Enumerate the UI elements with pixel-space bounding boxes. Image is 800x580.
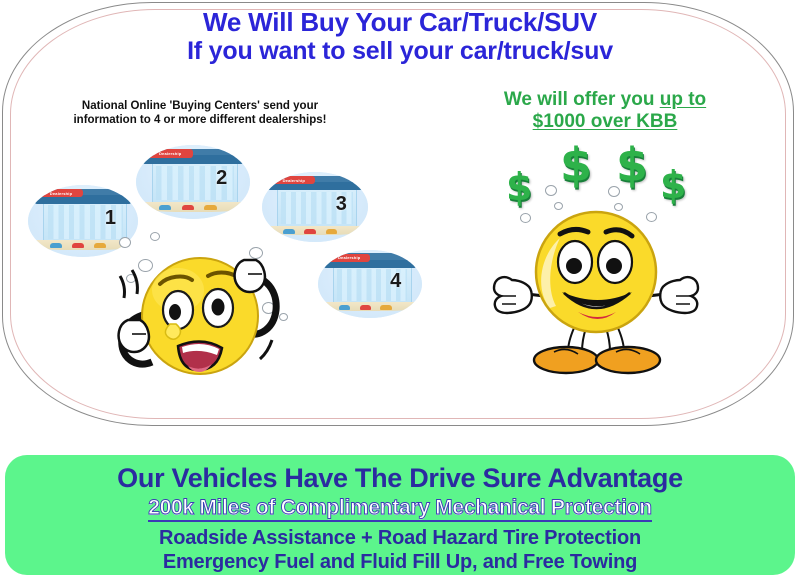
dealership-sign: Dealership xyxy=(273,176,315,184)
ad-canvas: We Will Buy Your Car/Truck/SUV If you wa… xyxy=(0,0,800,580)
dealership-number: 3 xyxy=(336,193,347,216)
headline-line-2: If you want to sell your car/truck/suv xyxy=(0,37,800,66)
thought-puff xyxy=(608,186,620,197)
banner-highlight-text: 200k Miles of Complimentary Mechanical P… xyxy=(148,496,651,522)
right-caption: We will offer you up to $1000 over KBB xyxy=(455,89,755,133)
car-icon xyxy=(94,243,106,248)
headline-line-1: We Will Buy Your Car/Truck/SUV xyxy=(0,8,800,37)
right-caption-plain: We will offer you xyxy=(504,89,660,110)
dollar-sign-icon: $ xyxy=(616,138,648,192)
dollar-sign-icon: $ xyxy=(560,138,592,192)
happy-emoji-svg xyxy=(478,200,714,380)
banner-highlight: 200k Miles of Complimentary Mechanical P… xyxy=(5,496,795,520)
right-caption-line-1: We will offer you up to xyxy=(455,89,755,111)
dealership-number: 2 xyxy=(216,167,227,190)
dealership-number: 1 xyxy=(105,207,116,230)
banner-benefit-line-1: Roadside Assistance + Road Hazard Tire P… xyxy=(5,526,795,550)
confused-emoji-svg xyxy=(112,228,292,388)
right-caption-underline-2: $1000 over KBB xyxy=(533,111,678,132)
car-icon xyxy=(380,305,391,310)
car-icon xyxy=(304,229,316,234)
car-icon xyxy=(360,305,371,310)
car-icon xyxy=(50,243,62,248)
left-caption-line-1: National Online 'Buying Centers' send yo… xyxy=(40,99,360,113)
dealership-sign: Dealership xyxy=(39,189,83,197)
happy-emoji xyxy=(478,200,714,380)
car-icon xyxy=(182,205,195,210)
right-caption-line-2: $1000 over KBB xyxy=(455,111,755,133)
car-icon xyxy=(159,205,172,210)
left-caption-line-2: information to 4 or more different deale… xyxy=(40,113,360,127)
confused-emoji xyxy=(112,228,292,388)
dealership-bubble-2: Dealership 2 xyxy=(136,145,250,219)
dealership-sign: Dealership xyxy=(328,254,370,261)
dealership-number: 4 xyxy=(390,270,401,293)
page-title: We Will Buy Your Car/Truck/SUV If you wa… xyxy=(0,8,800,66)
banner-benefit-line-2: Emergency Fuel and Fluid Fill Up, and Fr… xyxy=(5,550,795,574)
left-caption: National Online 'Buying Centers' send yo… xyxy=(40,99,360,127)
dealership-sign: Dealership xyxy=(147,149,193,157)
car-icon xyxy=(339,305,350,310)
car-icon xyxy=(326,229,338,234)
car-icon xyxy=(72,243,84,248)
right-caption-underline-1: up to xyxy=(660,89,706,110)
drive-sure-banner: Our Vehicles Have The Drive Sure Advanta… xyxy=(5,455,795,575)
banner-benefits: Roadside Assistance + Road Hazard Tire P… xyxy=(5,526,795,574)
car-icon xyxy=(204,205,217,210)
banner-title: Our Vehicles Have The Drive Sure Advanta… xyxy=(5,463,795,493)
thought-puff xyxy=(545,185,557,196)
thumbs-up-icon xyxy=(660,277,698,313)
thumbs-up-icon xyxy=(494,277,532,313)
dealership-bubble-4: Dealership 4 xyxy=(318,250,422,318)
